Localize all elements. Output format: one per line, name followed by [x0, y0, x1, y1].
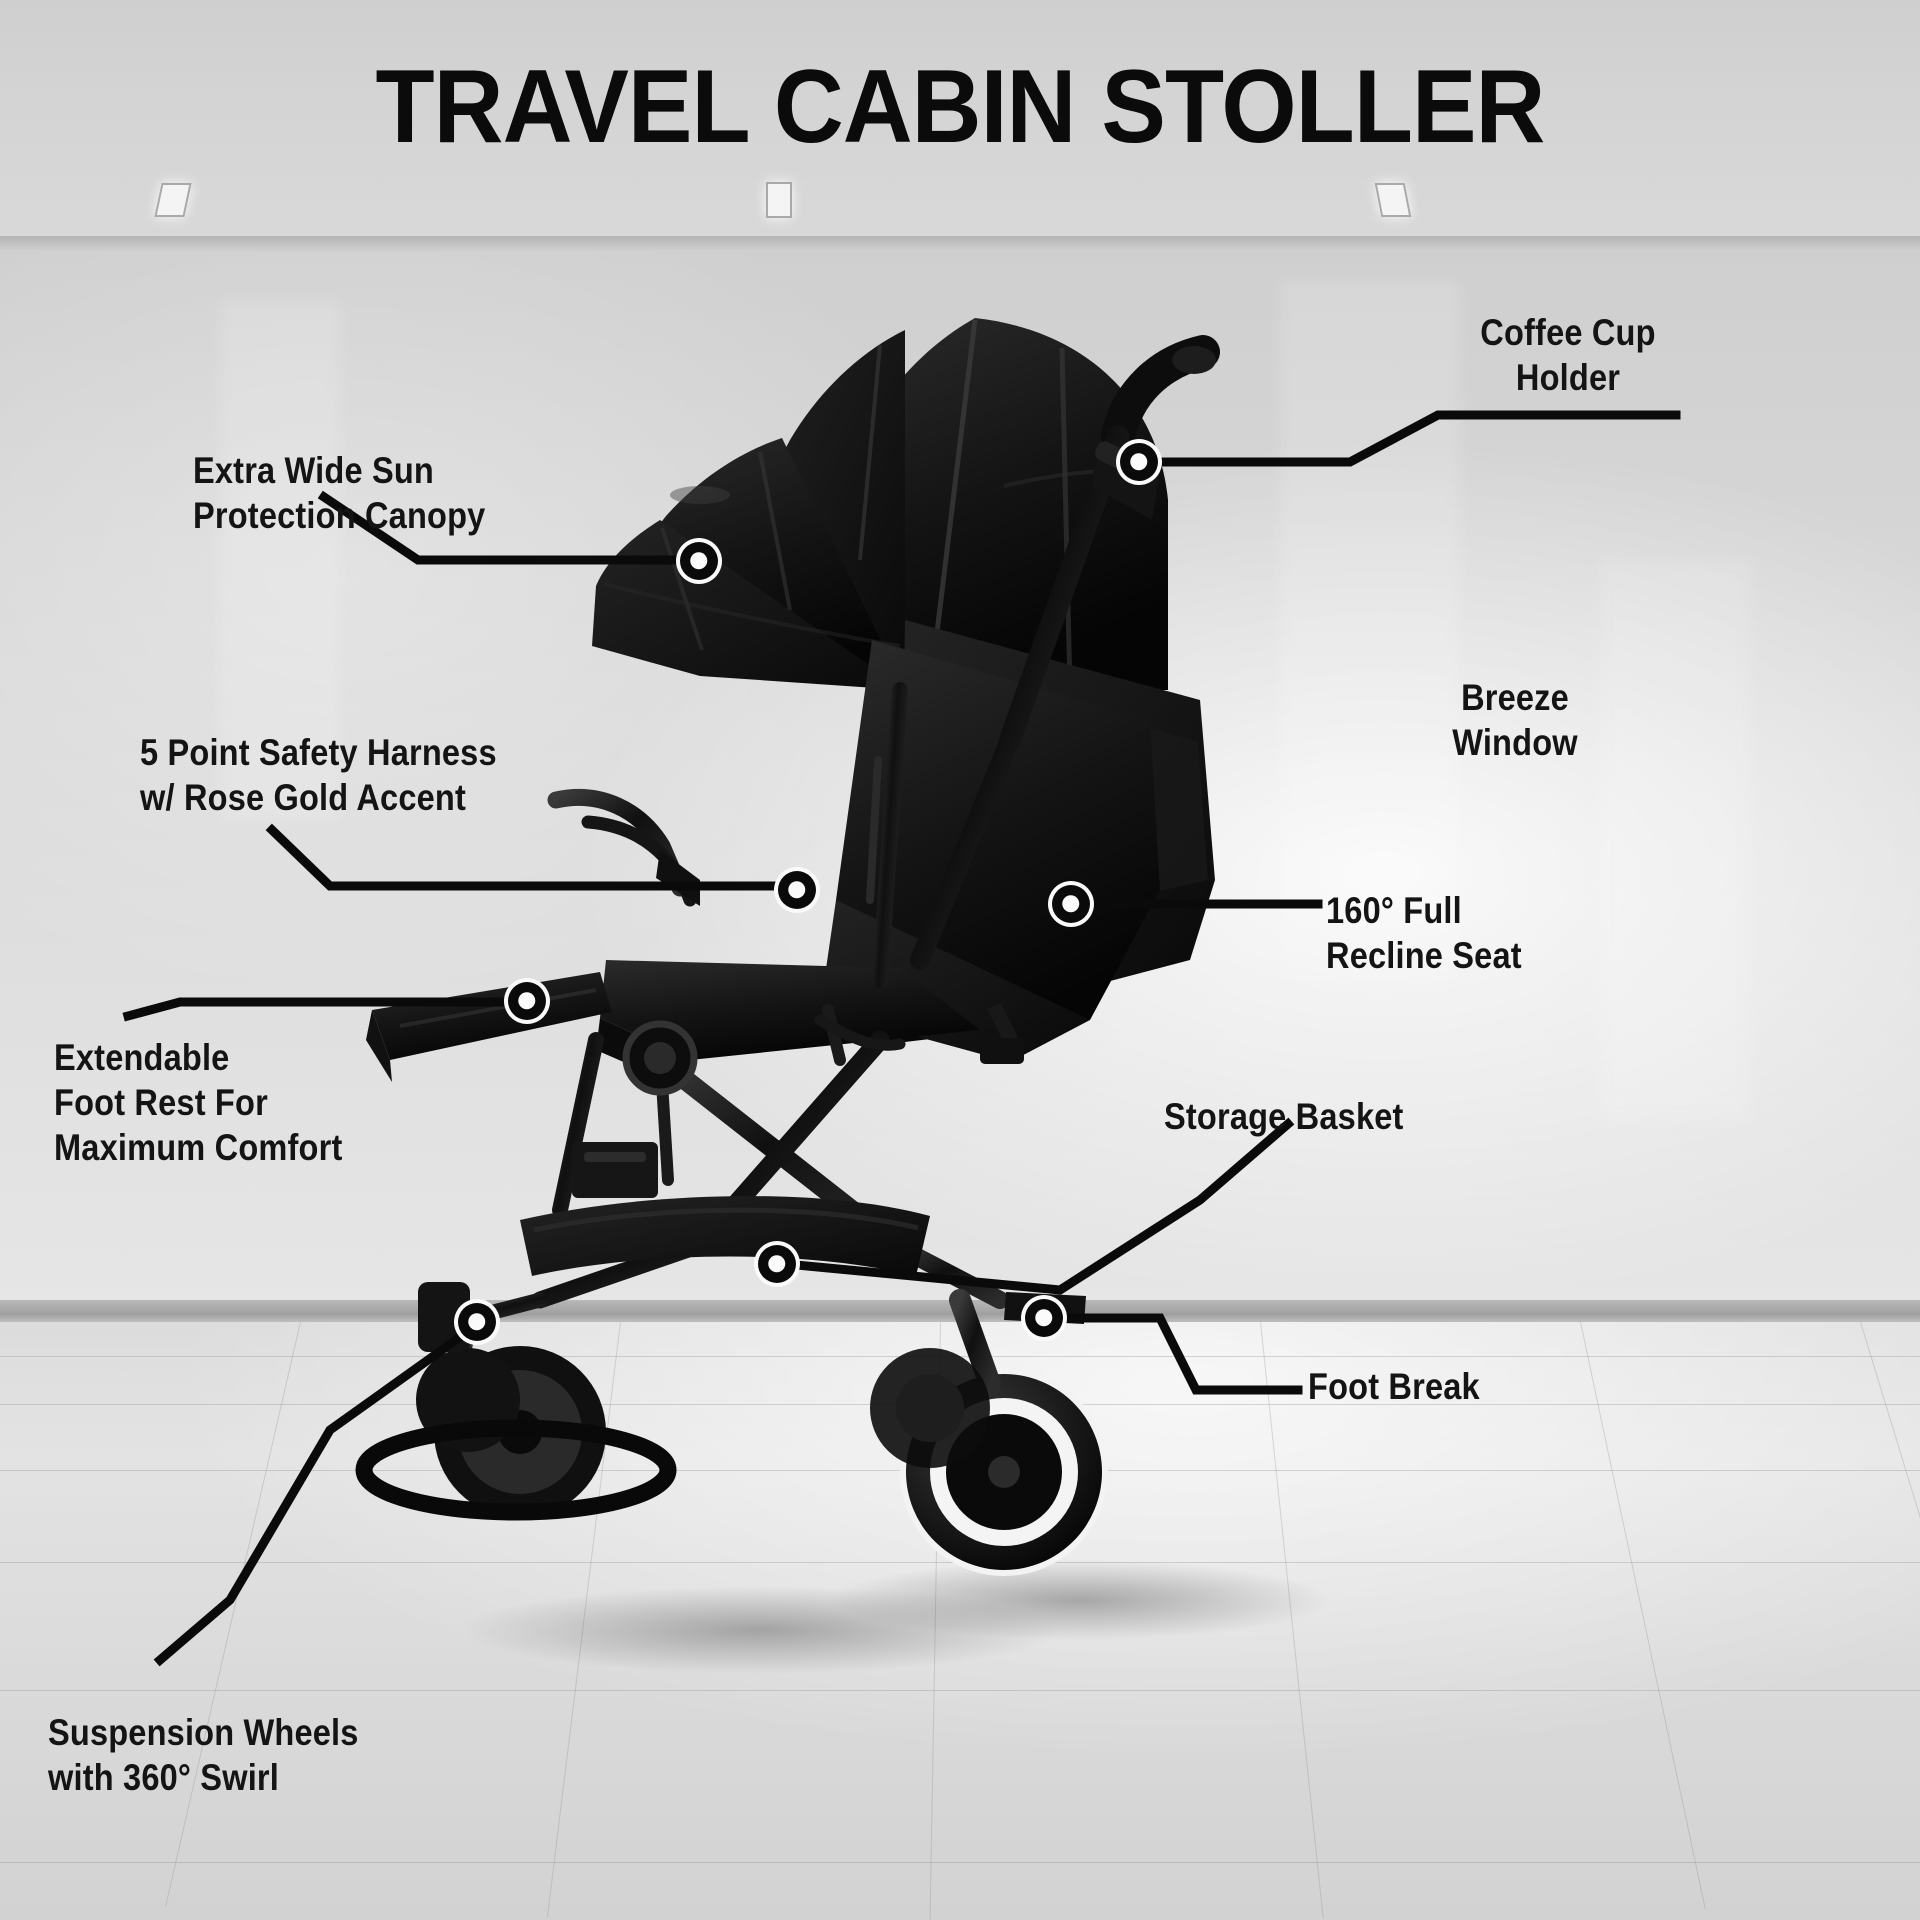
- callout-label-storage-basket: Storage Basket: [1164, 1094, 1404, 1139]
- callout-label-coffee-cup-holder: Coffee Cup Holder: [1436, 310, 1700, 400]
- leader-suspension: [160, 1330, 470, 1660]
- leader-foot-break: [1054, 1318, 1298, 1390]
- callout-leader-lines: [0, 0, 1920, 1920]
- callout-marker-footrest[interactable]: [508, 982, 546, 1020]
- callout-label-breeze-window: Breeze Window: [1414, 675, 1616, 765]
- leader-footrest: [128, 1002, 520, 1016]
- callout-label-foot-break: Foot Break: [1308, 1364, 1480, 1409]
- leader-coffee-cup-holder: [1148, 415, 1676, 462]
- leader-storage-basket: [786, 1124, 1288, 1290]
- callout-label-recline: 160° Full Recline Seat: [1326, 888, 1522, 978]
- callout-marker-foot-break[interactable]: [1025, 1299, 1063, 1337]
- page-title: TRAVEL CABIN STOLLER: [67, 48, 1853, 167]
- callout-marker-recline[interactable]: [1052, 885, 1090, 923]
- callout-label-footrest: Extendable Foot Rest For Maximum Comfort: [54, 1035, 342, 1170]
- callout-marker-canopy[interactable]: [680, 542, 718, 580]
- leader-harness: [272, 830, 790, 886]
- infographic-canvas: TRAVEL CABIN STOLLER Extra Wide Sun Prot…: [0, 0, 1920, 1920]
- callout-marker-harness[interactable]: [778, 871, 816, 909]
- callout-marker-suspension-wheels[interactable]: [458, 1303, 496, 1341]
- callout-marker-coffee-cup-holder[interactable]: [1120, 443, 1158, 481]
- callout-label-suspension-wheels: Suspension Wheels with 360° Swirl: [48, 1710, 359, 1800]
- callout-marker-storage-basket[interactable]: [758, 1245, 796, 1283]
- callout-label-canopy: Extra Wide Sun Protection Canopy: [193, 448, 485, 538]
- callout-label-harness: 5 Point Safety Harness w/ Rose Gold Acce…: [140, 730, 497, 820]
